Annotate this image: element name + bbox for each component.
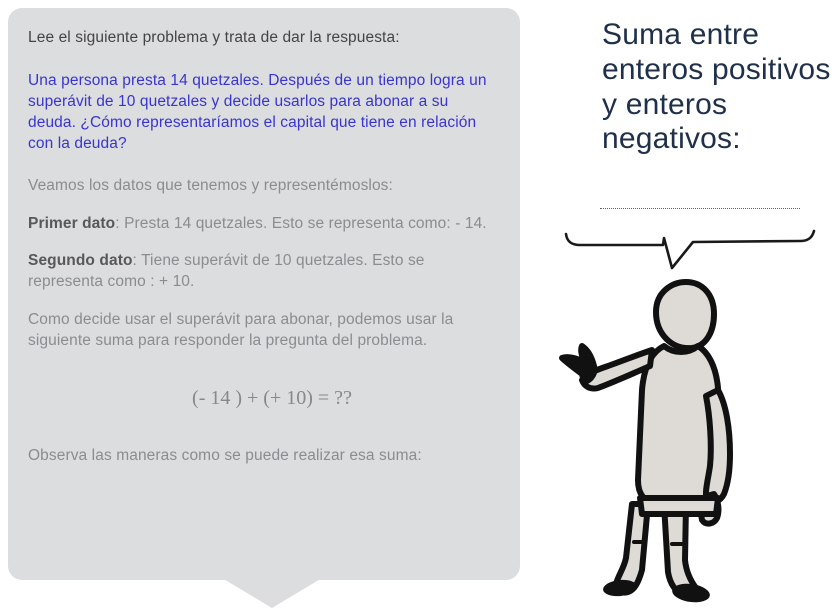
closing-instruction: Observa las maneras como se puede realiz… — [28, 446, 498, 467]
speech-bubble-icon — [560, 228, 820, 274]
lesson-title: Suma entre enteros positivos y enteros n… — [602, 18, 836, 157]
title-dotted-underline — [600, 208, 800, 209]
panel-lead-instruction: Lee el siguiente problema y trata de dar… — [28, 28, 498, 49]
conclusion-text: Como decide usar el superávit para abona… — [28, 310, 498, 352]
fact-one-text: : Presta 14 quetzales. Esto se represent… — [115, 215, 486, 232]
equation-expression: (- 14 ) + (+ 10) = ?? — [28, 369, 498, 410]
callout-tail-triangle — [222, 578, 322, 608]
fact-one-label: Primer dato — [28, 215, 115, 232]
lesson-title-column: Suma entre enteros positivos y enteros n… — [530, 0, 836, 608]
fact-one-line: Primer dato: Presta 14 quetzales. Esto s… — [28, 214, 498, 235]
data-review-instruction: Veamos los datos que tenemos y represent… — [28, 176, 498, 197]
person-pointing-icon — [552, 270, 802, 605]
problem-statement-text: Una persona presta 14 quetzales. Después… — [28, 71, 498, 155]
fact-two-line: Segundo dato: Tiene superávit de 10 quet… — [28, 251, 498, 293]
problem-callout-panel: Lee el siguiente problema y trata de dar… — [8, 8, 520, 580]
fact-two-label: Segundo dato — [28, 252, 133, 269]
